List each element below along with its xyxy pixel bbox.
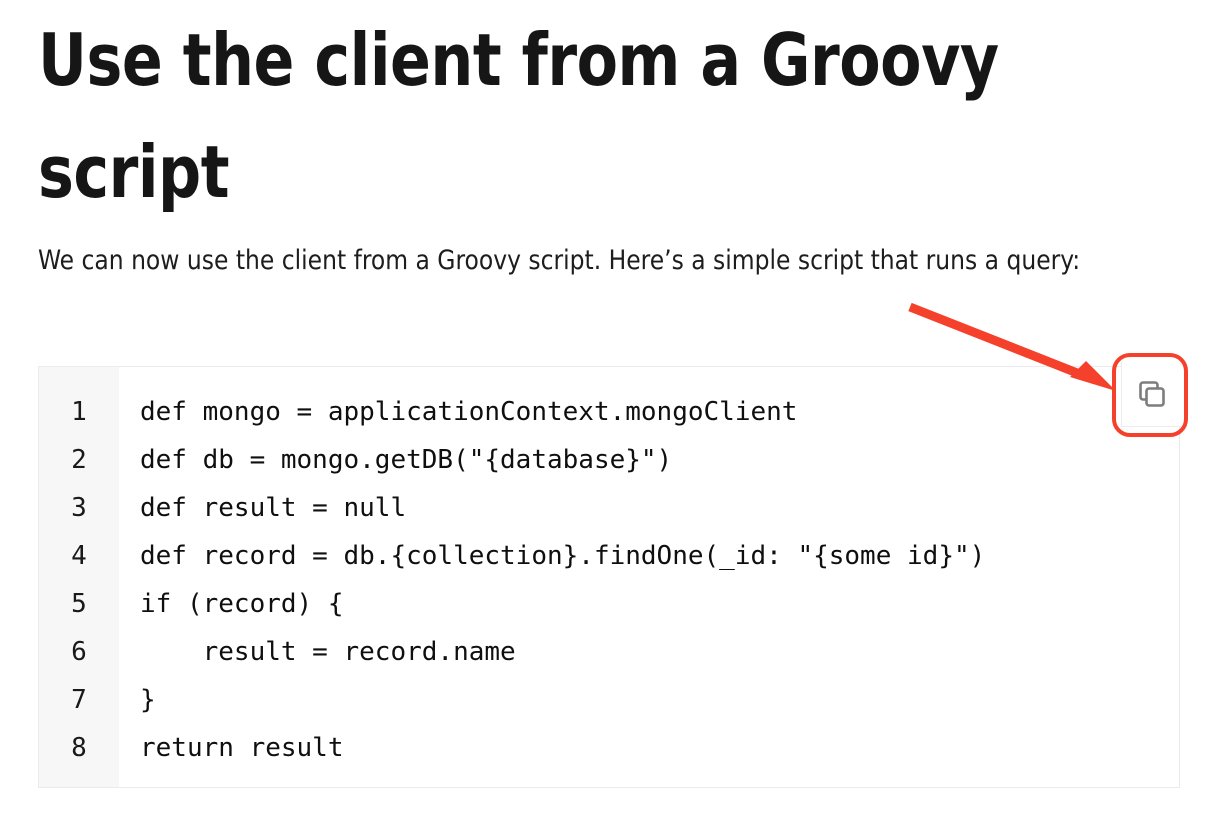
line-number: 2 <box>39 436 119 484</box>
intro-paragraph: We can now use the client from a Groovy … <box>38 236 1117 286</box>
line-number: 1 <box>39 388 119 436</box>
code-line: 4 def record = db.{collection}.findOne(_… <box>39 532 1179 580</box>
code-line: 1 def mongo = applicationContext.mongoCl… <box>39 388 1179 436</box>
code-line: 7 } <box>39 676 1179 724</box>
code-line: 6 result = record.name <box>39 628 1179 676</box>
line-number: 8 <box>39 724 119 772</box>
line-content: def result = null <box>119 484 406 532</box>
line-content: def record = db.{collection}.findOne(_id… <box>119 532 985 580</box>
copy-icon <box>1135 377 1169 411</box>
line-number: 6 <box>39 628 119 676</box>
line-content: result = record.name <box>119 628 516 676</box>
line-number: 3 <box>39 484 119 532</box>
page-title: Use the client from a Groovy script <box>38 4 1061 228</box>
line-number: 4 <box>39 532 119 580</box>
code-line: 3 def result = null <box>39 484 1179 532</box>
code-lines: 1 def mongo = applicationContext.mongoCl… <box>39 367 1179 772</box>
code-line: 8 return result <box>39 724 1179 772</box>
line-content: def db = mongo.getDB("{database}") <box>119 436 672 484</box>
code-line: 5 if (record) { <box>39 580 1179 628</box>
code-line: 2 def db = mongo.getDB("{database}") <box>39 436 1179 484</box>
copy-code-button[interactable] <box>1121 361 1181 427</box>
article-page: Use the client from a Groovy script We c… <box>0 0 1222 826</box>
line-content: def mongo = applicationContext.mongoClie… <box>119 388 797 436</box>
line-content: return result <box>119 724 344 772</box>
line-number: 7 <box>39 676 119 724</box>
line-number: 5 <box>39 580 119 628</box>
line-content: if (record) { <box>119 580 344 628</box>
code-block: 1 def mongo = applicationContext.mongoCl… <box>38 366 1180 788</box>
line-content: } <box>119 676 156 724</box>
